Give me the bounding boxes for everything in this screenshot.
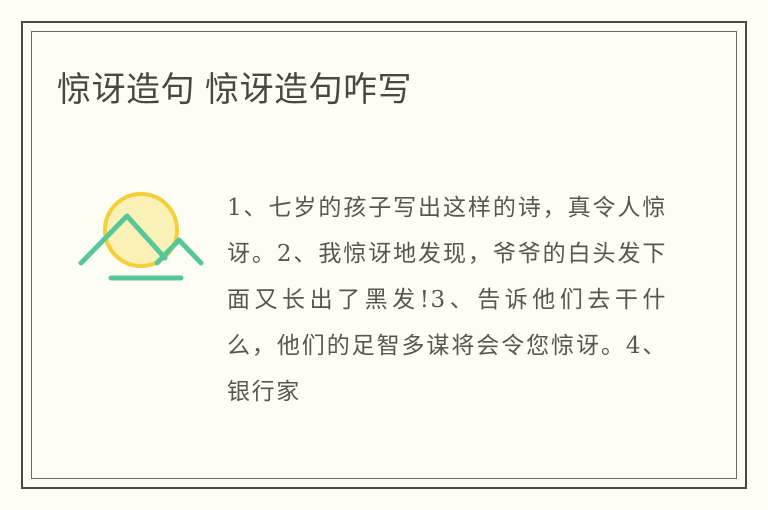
article-body-text: 1、七岁的孩子写出这样的诗，真令人惊讶。2、我惊讶地发现，爷爷的白头发下面又长出… — [227, 185, 667, 415]
article-thumbnail — [75, 178, 215, 288]
mountain-sunrise-icon — [75, 178, 215, 288]
article-content: 1、七岁的孩子写出这样的诗，真令人惊讶。2、我惊讶地发现，爷爷的白头发下面又长出… — [57, 162, 708, 438]
page-title: 惊讶造句 惊讶造句咋写 — [57, 68, 412, 112]
article-page: 惊讶造句 惊讶造句咋写 1、七岁的孩子写出这样的诗，真令人惊讶。2、我惊讶地发现… — [0, 0, 768, 510]
